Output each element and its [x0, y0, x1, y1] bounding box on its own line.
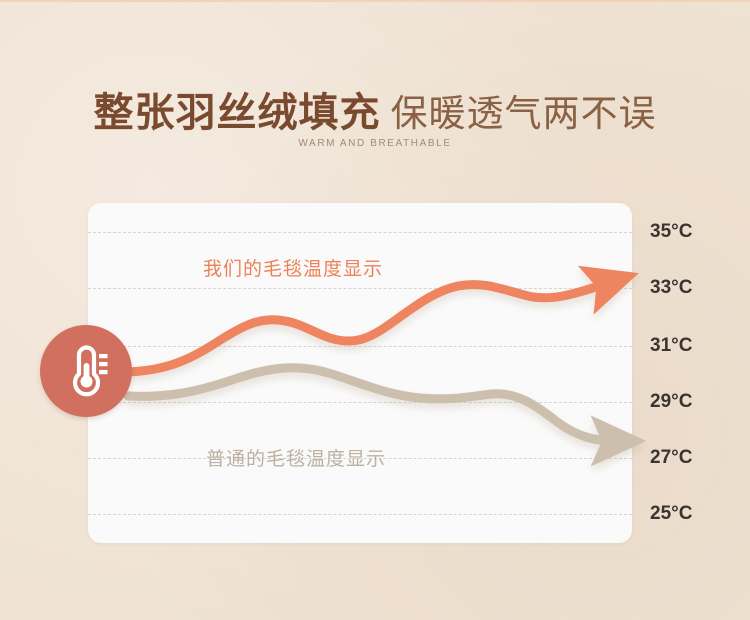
series-label-ours: 我们的毛毯温度显示	[203, 254, 383, 281]
gridline-31	[88, 346, 632, 347]
gridline-35	[88, 232, 632, 233]
promo-page: 整张羽丝绒填充保暖透气两不误 WARM AND BREATHABLE 我们的毛毯…	[0, 0, 750, 620]
series-label-normal: 普通的毛毯温度显示	[206, 444, 386, 471]
page-title: 整张羽丝绒填充保暖透气两不误	[0, 80, 750, 138]
temperature-chart-card: 我们的毛毯温度显示 普通的毛毯温度显示	[88, 203, 632, 543]
page-title-bold: 整张羽丝绒填充	[94, 91, 381, 135]
ytick-label-1: 33°C	[650, 277, 692, 299]
ytick-label-0: 35°C	[650, 221, 692, 243]
page-subtitle: WARM AND BREATHABLE	[0, 138, 750, 149]
ytick-label-4: 27°C	[650, 447, 692, 469]
gridline-29	[88, 402, 632, 403]
thermometer-badge	[40, 325, 132, 417]
ytick-label-3: 29°C	[650, 391, 692, 413]
ytick-label-2: 31°C	[650, 335, 692, 357]
top-divider	[0, 0, 750, 2]
page-title-light: 保暖透气两不误	[391, 93, 657, 134]
gridline-33	[88, 288, 632, 289]
gridline-25	[88, 514, 632, 515]
thermometer-icon	[62, 345, 110, 397]
ytick-label-5: 25°C	[650, 503, 692, 525]
